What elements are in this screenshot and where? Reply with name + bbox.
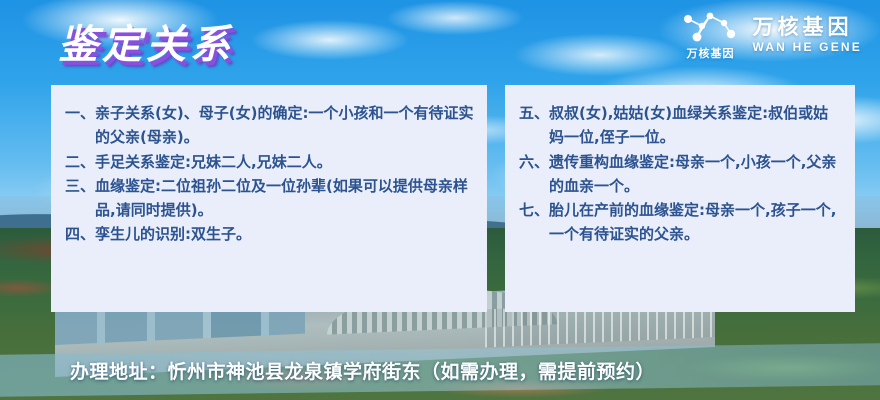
brand-name-en: WAN HE GENE bbox=[752, 41, 862, 54]
list-item: 六、 遗传重构血缘鉴定:母亲一个,小孩一个,父亲的血亲一个。 bbox=[519, 150, 843, 199]
list-item-text: 亲子关系(女)、母子(女)的确定:一个小孩和一个有待证实的父亲(母亲)。 bbox=[95, 101, 475, 150]
list-item: 七、 胎儿在产前的血缘鉴定:母亲一个,孩子一个,一个有待证实的父亲。 bbox=[519, 198, 843, 247]
list-item-text: 手足关系鉴定:兄妹二人,兄妹二人。 bbox=[95, 150, 475, 174]
list-item: 四、 孪生儿的识别:双生子。 bbox=[65, 222, 475, 246]
list-item-text: 胎儿在产前的血缘鉴定:母亲一个,孩子一个,一个有待证实的父亲。 bbox=[549, 198, 843, 247]
list-item-number: 二、 bbox=[65, 150, 95, 174]
brand-text: 万核基因 WAN HE GENE bbox=[752, 17, 862, 54]
list-item-number: 三、 bbox=[65, 174, 95, 198]
list-item-text: 叔叔(女),姑姑(女)血绿关系鉴定:叔伯或姑妈一位,侄子一位。 bbox=[549, 101, 843, 150]
list-item-text: 血缘鉴定:二位祖孙二位及一位孙辈(如果可以提供母亲样品,请同时提供)。 bbox=[95, 174, 475, 223]
address-text: 办理地址：忻州市神池县龙泉镇学府街东（如需办理，需提前预约） bbox=[70, 352, 810, 388]
list-item-number: 七、 bbox=[519, 198, 549, 222]
molecule-icon: 万核基因 bbox=[680, 10, 740, 61]
brand-name-cn: 万核基因 bbox=[752, 17, 862, 39]
molecule-icon-graphic bbox=[680, 10, 740, 44]
list-item-number: 四、 bbox=[65, 222, 95, 246]
list-item-number: 六、 bbox=[519, 150, 549, 174]
list-item: 一、 亲子关系(女)、母子(女)的确定:一个小孩和一个有待证实的父亲(母亲)。 bbox=[65, 101, 475, 150]
relationship-list-left-panel: 一、 亲子关系(女)、母子(女)的确定:一个小孩和一个有待证实的父亲(母亲)。 … bbox=[51, 85, 487, 312]
list-item-number: 一、 bbox=[65, 101, 95, 125]
page-title: 鉴定关系 bbox=[58, 12, 234, 70]
list-item: 二、 手足关系鉴定:兄妹二人,兄妹二人。 bbox=[65, 150, 475, 174]
list-item: 五、 叔叔(女),姑姑(女)血绿关系鉴定:叔伯或姑妈一位,侄子一位。 bbox=[519, 101, 843, 150]
relationship-list-right-panel: 五、 叔叔(女),姑姑(女)血绿关系鉴定:叔伯或姑妈一位,侄子一位。 六、 遗传… bbox=[505, 85, 855, 312]
list-item-text: 遗传重构血缘鉴定:母亲一个,小孩一个,父亲的血亲一个。 bbox=[549, 150, 843, 199]
brand-logo: 万核基因 万核基因 WAN HE GENE bbox=[680, 10, 862, 61]
list-item-text: 孪生儿的识别:双生子。 bbox=[95, 222, 475, 246]
logo-mark-label: 万核基因 bbox=[686, 45, 734, 61]
list-item: 三、 血缘鉴定:二位祖孙二位及一位孙辈(如果可以提供母亲样品,请同时提供)。 bbox=[65, 174, 475, 223]
list-item-number: 五、 bbox=[519, 101, 549, 125]
